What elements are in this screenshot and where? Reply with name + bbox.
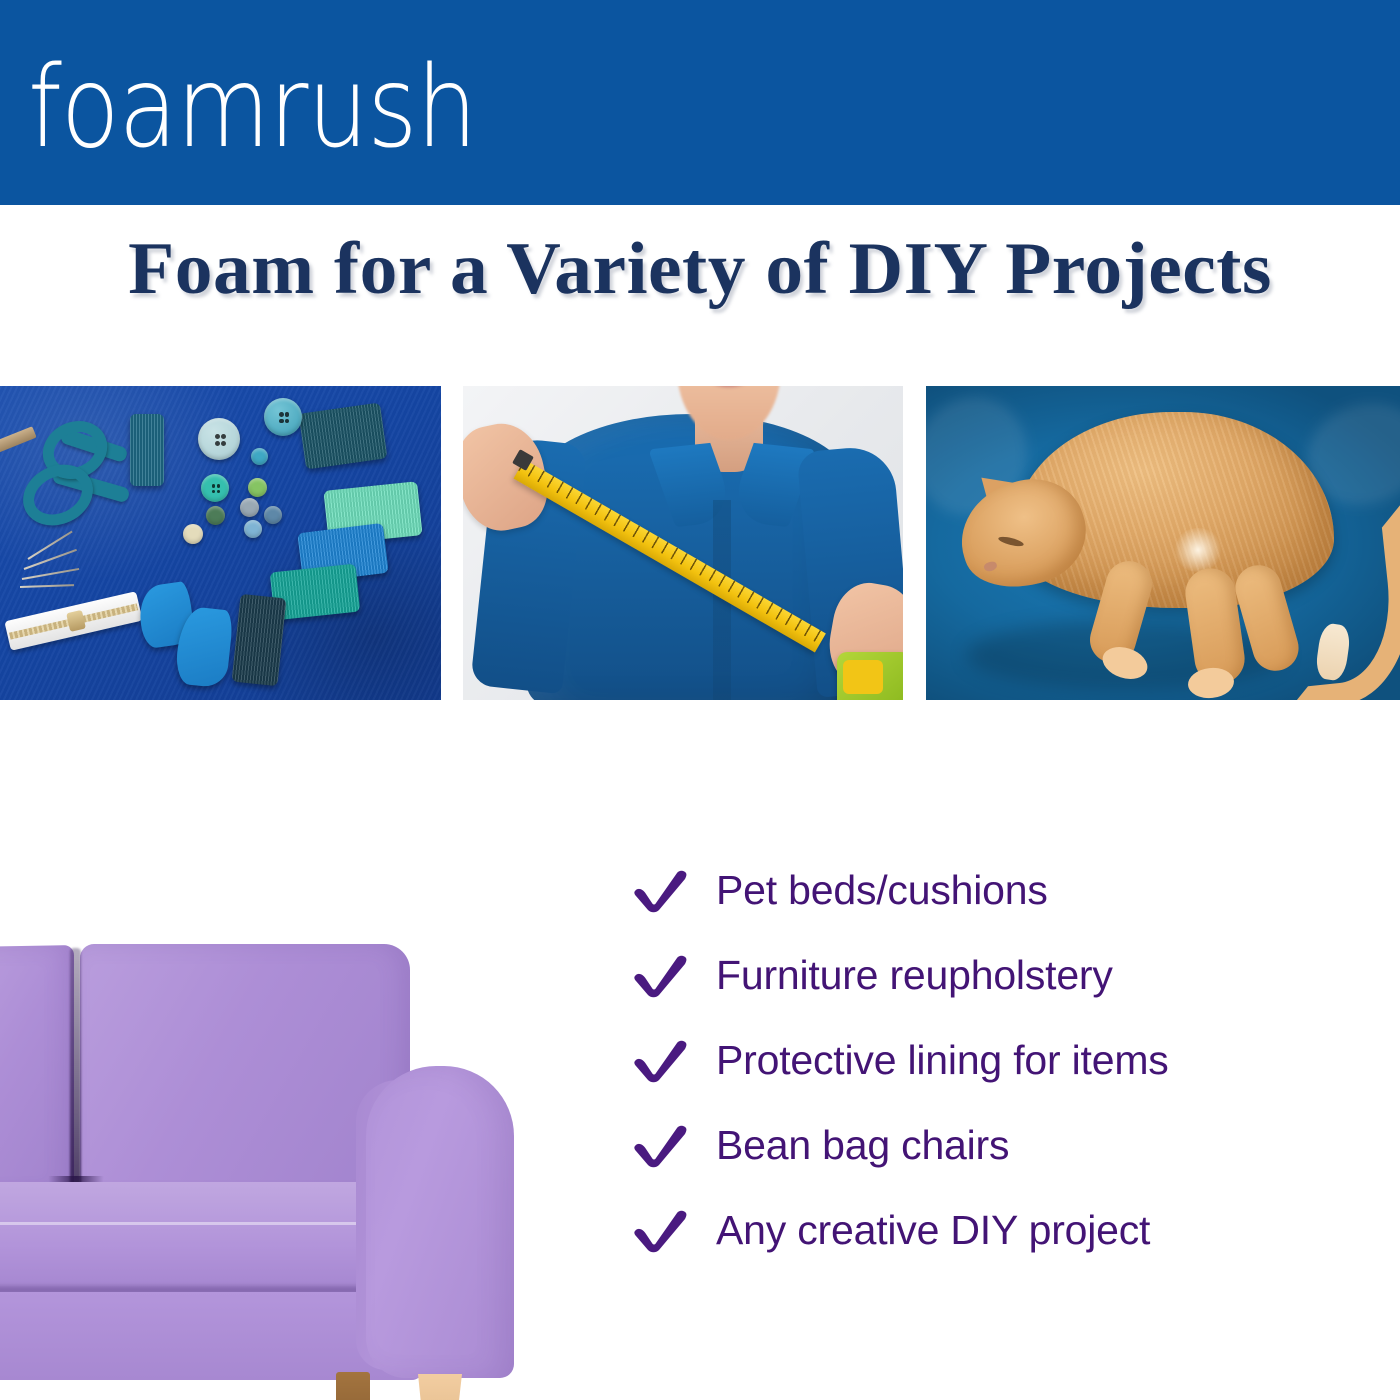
benefits-list: Pet beds/cushions Furniture reupholstery… (632, 848, 1372, 1273)
sewing-button (264, 506, 282, 524)
sewing-supplies-photo (0, 386, 441, 700)
sofa-cushion-seam (70, 948, 81, 1200)
header-banner: foamrush (0, 0, 1400, 205)
list-item: Any creative DIY project (632, 1188, 1372, 1273)
marketing-infographic: foamrush Foam for a Variety of DIY Proje… (0, 0, 1400, 1400)
sewing-button (264, 398, 302, 436)
cat-on-beanbag-photo (926, 386, 1400, 700)
spool-thread-texture (299, 403, 388, 470)
spool-thread-texture (130, 414, 164, 486)
list-item-label: Furniture reupholstery (690, 954, 1113, 997)
brand-logo: foamrush (28, 52, 476, 164)
photo-strip (0, 386, 1400, 700)
list-item: Furniture reupholstery (632, 933, 1372, 1018)
sewing-button (240, 498, 259, 517)
list-item-label: Bean bag chairs (690, 1124, 1009, 1167)
list-item-label: Protective lining for items (690, 1039, 1169, 1082)
tape-measure-photo (463, 386, 903, 700)
cat-belly-patch (1174, 528, 1222, 572)
sewing-button (183, 524, 203, 544)
person-chin (677, 386, 781, 440)
list-item-label: Any creative DIY project (690, 1209, 1150, 1252)
page-headline: Foam for a Variety of DIY Projects (0, 232, 1400, 306)
sofa-leg-back (336, 1372, 370, 1400)
sofa-rolled-arm (366, 1066, 514, 1378)
list-item: Bean bag chairs (632, 1103, 1372, 1188)
list-item-label: Pet beds/cushions (690, 869, 1048, 912)
sofa-leg-front (418, 1374, 462, 1400)
sewing-button (248, 478, 267, 497)
checkmark-icon (632, 1039, 690, 1083)
thread-spool (130, 414, 164, 486)
list-item: Protective lining for items (632, 1018, 1372, 1103)
zipper-pull (66, 610, 86, 632)
sewing-button (201, 474, 229, 502)
checkmark-icon (632, 1209, 690, 1253)
checkmark-icon (632, 954, 690, 998)
sewing-button (244, 520, 262, 538)
purple-sofa-illustration (0, 930, 530, 1400)
sewing-button (198, 418, 240, 460)
thread-spool (232, 594, 287, 686)
spool-thread-texture (232, 594, 287, 686)
tape-measure-case (837, 652, 903, 700)
sofa-back-cushion-left (0, 945, 74, 1197)
list-item: Pet beds/cushions (632, 848, 1372, 933)
thread-spool (299, 403, 388, 470)
sewing-button (206, 506, 225, 525)
checkmark-icon (632, 869, 690, 913)
checkmark-icon (632, 1124, 690, 1168)
sewing-button (251, 448, 268, 465)
